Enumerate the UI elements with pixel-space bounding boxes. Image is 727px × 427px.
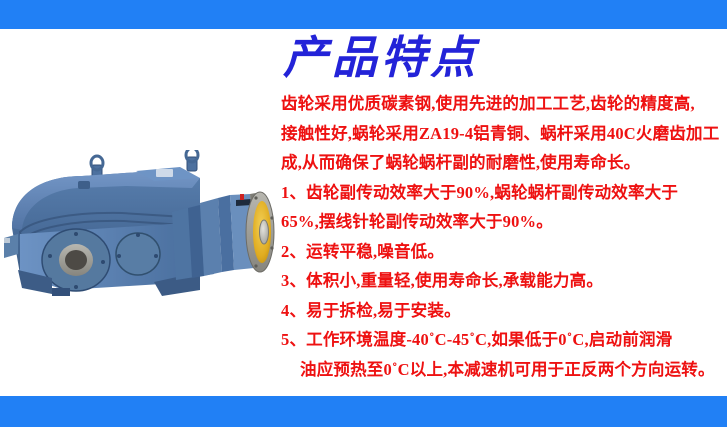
page-title: 产品特点 [281,30,725,83]
output-bore [260,220,269,244]
output-flange-assembly [246,192,274,272]
feature-line: 65%,摆线针轮副传动效率大于90%。 [281,207,725,237]
breather-plug [78,181,90,189]
top-blue-band [0,0,727,29]
feature-line: 3、体积小,重量轻,使用寿命长,承载能力高。 [281,266,725,296]
feature-line: 齿轮采用优质碳素钢,使用先进的加工工艺,齿轮的精度高, [281,89,725,119]
mounting-lug-left [4,234,18,258]
feature-line: 接触性好,蜗轮采用ZA19-4铝青铜、蜗杆采用40C火磨齿加工 [281,119,725,149]
feature-line: 5、工作环境温度-40˚C-45˚C,如果低于0˚C,启动前润滑 [281,325,725,355]
feature-line: 油应预热至0˚C以上,本减速机可用于正反两个方向运转。 [281,355,725,385]
feature-line: 成,从而确保了蜗轮蜗杆副的耐磨性,使用寿命长。 [281,148,725,178]
inspection-cover [42,229,110,291]
nameplate [156,169,173,177]
product-feature-banner: 产品特点 齿轮采用优质碳素钢,使用先进的加工工艺,齿轮的精度高,接触性好,蜗轮采… [0,0,727,427]
mounting-pad-left [4,238,10,243]
secondary-cover [116,233,160,275]
feature-text-column: 产品特点 齿轮采用优质碳素钢,使用先进的加工工艺,齿轮的精度高,接触性好,蜗轮采… [281,30,725,390]
feature-line: 2、运转平稳,噪音低。 [281,237,725,267]
base-pad-left [52,288,70,296]
bottom-blue-band [0,396,727,427]
industrial-gearbox-reducer-photo [4,150,294,315]
feature-line: 4、易于拆检,易于安装。 [281,296,725,326]
feature-list: 齿轮采用优质碳素钢,使用先进的加工工艺,齿轮的精度高,接触性好,蜗轮采用ZA19… [281,89,725,384]
lifting-eye-right [186,150,198,171]
feature-line: 1、齿轮副传动效率大于90%,蜗轮蜗杆副传动效率大于 [281,178,725,208]
